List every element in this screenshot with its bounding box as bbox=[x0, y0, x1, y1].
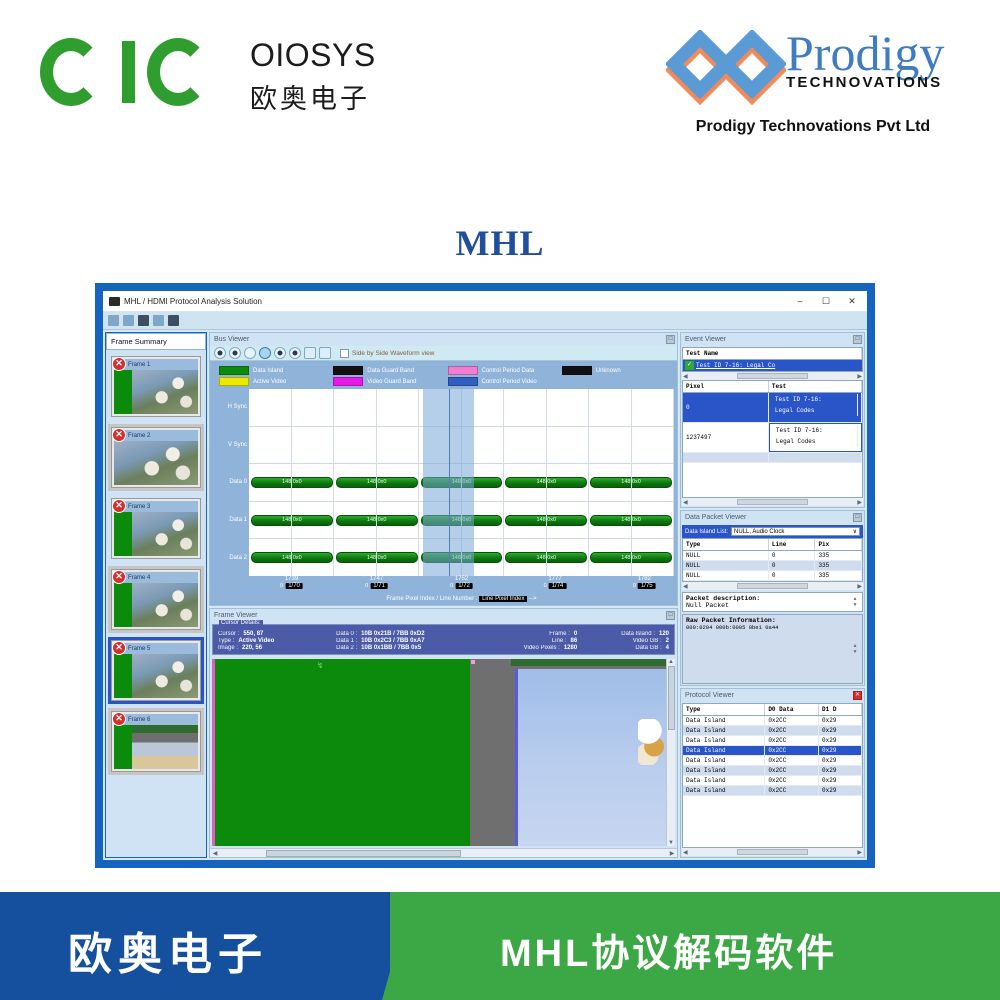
frame-green-region: ↯ bbox=[215, 659, 470, 846]
detail-key: Line : bbox=[552, 638, 567, 644]
detail-row: Video GB :2 bbox=[581, 638, 669, 644]
frame-thumbnail bbox=[114, 441, 198, 485]
banner-green-wedge bbox=[382, 892, 462, 1000]
frame-thumbnail bbox=[114, 654, 198, 698]
toolbar-open-icon[interactable] bbox=[108, 315, 119, 326]
detail-value: 10B 0x1BB / 7BB 0x5 bbox=[361, 645, 421, 651]
legend-item: Data Island bbox=[219, 366, 323, 375]
axis-tick-top: 1739 bbox=[280, 576, 303, 582]
grid-large-icon[interactable] bbox=[319, 347, 331, 359]
workspace: Frame Summary ✕ Frame 1 ✕ bbox=[103, 330, 867, 860]
minimize-button[interactable]: – bbox=[787, 292, 813, 311]
table-header: Test Name bbox=[683, 348, 862, 360]
cursor-details-column-2: Data 0 :10B 0x21B / 7BB 0xD2 Data 1 :10B… bbox=[336, 631, 494, 651]
waveform-block[interactable]: 148 0x0 bbox=[590, 552, 672, 563]
table-row[interactable]: Data Island0x2CC0x29 bbox=[683, 746, 862, 756]
frame-label: Frame 6 bbox=[128, 717, 150, 723]
table-row[interactable]: 1237497 Test ID 7-16: Legal Codes bbox=[683, 423, 862, 453]
window-title: MHL / HDMI Protocol Analysis Solution bbox=[124, 297, 262, 306]
table-row[interactable]: Data Island0x2CC0x29 bbox=[683, 716, 862, 726]
column-header: Test Name bbox=[683, 348, 862, 359]
reset-zoom-icon[interactable] bbox=[244, 347, 256, 359]
waveform-axis: 1739 01/70 1747 01/71 1752 01/72 1777 bbox=[249, 576, 674, 602]
data-island-list-row: Data Island List: NULL, Audio Clock ∨ bbox=[682, 525, 863, 538]
bus-viewer-header: Bus Viewer □ bbox=[210, 333, 677, 346]
frame-label: Frame 2 bbox=[128, 433, 150, 439]
detail-row: Type :Active Video bbox=[218, 638, 332, 644]
column-header: Line bbox=[769, 539, 816, 550]
legend-swatch bbox=[219, 366, 249, 375]
scroll-left-arrow-icon[interactable]: ◀ bbox=[683, 499, 688, 506]
raw-packet-scrollbar[interactable]: ▲▼ bbox=[851, 617, 859, 681]
scroll-right-arrow-icon[interactable]: ▶ bbox=[857, 499, 862, 506]
frame-thumbnail bbox=[114, 725, 198, 769]
legend-swatch bbox=[562, 366, 592, 375]
legend-swatch bbox=[333, 377, 363, 386]
error-icon: ✕ bbox=[112, 499, 126, 513]
test-name-table[interactable]: Test Name ✓ Test ID 7-16: Legal Co bbox=[682, 347, 863, 372]
event-detail-table[interactable]: Pixel Test 0 Test ID 7-16: Legal Codes 1… bbox=[682, 380, 863, 498]
axis-tick-top: 1752 bbox=[450, 576, 473, 582]
page-title: MHL bbox=[0, 222, 1000, 264]
oiosys-name-cn: 欧奥电子 bbox=[250, 80, 376, 118]
detail-value: 0 bbox=[574, 631, 577, 637]
legend-swatch bbox=[448, 366, 478, 375]
column-header: Pix bbox=[815, 539, 862, 550]
list-item[interactable]: ✕ Frame 6 bbox=[108, 708, 204, 775]
event-viewer-title: Event Viewer bbox=[685, 336, 726, 343]
cell-type: Data Island bbox=[683, 776, 765, 785]
list-item[interactable]: ✕ Frame 4 bbox=[108, 566, 204, 633]
cell-type: Data Island bbox=[683, 746, 765, 755]
waveform-legend: Data Island Data Guard Band Control Peri… bbox=[213, 364, 674, 389]
event-viewer-header: Event Viewer □ bbox=[681, 333, 864, 346]
scroll-thumb[interactable] bbox=[737, 849, 809, 855]
protocol-viewer-panel: Protocol Viewer ✕ Type D0 Data D1 D Data… bbox=[680, 688, 865, 858]
waveform-block[interactable]: 148 0x0 bbox=[336, 477, 418, 488]
waveform-block[interactable]: 148 0x0 bbox=[505, 515, 587, 526]
scroll-up-arrow-icon[interactable]: ▲ bbox=[668, 659, 674, 665]
eye-icon[interactable] bbox=[289, 347, 301, 359]
waveform-block[interactable]: 148 0x0 bbox=[251, 515, 333, 526]
data-island-list-label: Data Island List: bbox=[685, 529, 728, 535]
prodigy-wordmark: Prodigy TECHNOVATIONS bbox=[786, 26, 944, 91]
packet-description-value: Null Packet bbox=[686, 602, 851, 609]
frame-pink-marker-icon bbox=[471, 660, 475, 664]
scroll-down-arrow-icon[interactable]: ▼ bbox=[853, 649, 856, 655]
frame-card: ✕ Frame 5 bbox=[111, 640, 201, 701]
scroll-right-arrow-icon[interactable]: ▶ bbox=[857, 849, 862, 856]
scroll-thumb[interactable] bbox=[668, 666, 675, 730]
banner-company-name: 欧奥电子 bbox=[68, 918, 268, 982]
app-toolbar bbox=[103, 312, 867, 330]
waveform-block[interactable]: 148 0x0 bbox=[336, 515, 418, 526]
legend-item: Data Guard Band bbox=[333, 366, 437, 375]
frame-caption: ✕ Frame 3 bbox=[114, 501, 198, 512]
list-item[interactable]: ✕ Frame 2 bbox=[108, 424, 204, 491]
legend-swatch bbox=[333, 366, 363, 375]
legend-item: Video Guard Band bbox=[333, 377, 437, 386]
packet-description-box: Packet description: Null Packet ▲▼ bbox=[682, 592, 863, 612]
scroll-left-arrow-icon[interactable]: ◀ bbox=[683, 849, 688, 856]
scroll-thumb[interactable] bbox=[737, 499, 809, 505]
cell-d1: 0x29 bbox=[819, 756, 862, 765]
frame-caption: ✕ Frame 4 bbox=[114, 572, 198, 583]
table-row[interactable]: Data Island0x2CC0x29 bbox=[683, 786, 862, 796]
cell-pix: 335 bbox=[815, 571, 862, 580]
frame-card: ✕ Frame 3 bbox=[111, 498, 201, 559]
application-window-frame: MHL / HDMI Protocol Analysis Solution – … bbox=[95, 283, 875, 868]
table-row[interactable]: NULL0335 bbox=[683, 561, 862, 571]
legend-item-empty bbox=[562, 377, 666, 386]
error-icon: ✕ bbox=[112, 641, 126, 655]
detail-row: Data 0 :10B 0x21B / 7BB 0xD2 bbox=[336, 631, 494, 637]
oio-ring-right-icon bbox=[147, 38, 209, 106]
cell-type: NULL bbox=[683, 551, 769, 560]
cell-d1: 0x29 bbox=[819, 716, 862, 725]
axis-tick-top: 1782 bbox=[633, 576, 656, 582]
frame-picture-region bbox=[511, 659, 666, 846]
packet-table-hscrollbar[interactable]: ◀▶ bbox=[682, 582, 863, 590]
zoom-in-icon[interactable] bbox=[214, 347, 226, 359]
scroll-left-arrow-icon[interactable]: ◀ bbox=[683, 373, 688, 380]
detail-key: Type : bbox=[218, 638, 234, 644]
axis-caption-highlight: Line Pixel Index bbox=[479, 596, 527, 602]
cell-d0: 0x2CC bbox=[765, 716, 819, 725]
waveform-block[interactable]: 148 0x0 bbox=[505, 552, 587, 563]
data-packet-viewer-header: Data Packet Viewer □ bbox=[681, 511, 864, 524]
maximize-button[interactable]: ☐ bbox=[813, 292, 839, 311]
error-icon: ✕ bbox=[112, 428, 126, 442]
cell-type: Data Island bbox=[683, 756, 765, 765]
axis-tick-zero: 0 bbox=[280, 583, 283, 589]
axis-tick-zero: 0 bbox=[544, 583, 547, 589]
cell-d0: 0x2CC bbox=[765, 726, 819, 735]
table-row[interactable]: Data Island0x2CC0x29 bbox=[683, 756, 862, 766]
frame-gray-region bbox=[470, 659, 512, 846]
detail-value: 4 bbox=[666, 645, 669, 651]
bus-viewer-close-icon[interactable]: □ bbox=[666, 335, 675, 344]
legend-label: Control Period Data bbox=[482, 368, 535, 374]
scroll-right-arrow-icon[interactable]: ▶ bbox=[668, 850, 676, 857]
prodigy-mark-icon bbox=[666, 30, 786, 110]
waveform-canvas[interactable]: H Sync V Sync Data 0 148 0x0 148 0x0 bbox=[249, 389, 674, 576]
raw-packet-value: 000:0204 000b:0005 0be1 0a44 bbox=[686, 624, 851, 631]
frame-summary-list[interactable]: ✕ Frame 1 ✕ Frame 2 bbox=[106, 350, 206, 857]
table-row[interactable]: NULL0335 bbox=[683, 571, 862, 581]
scroll-thumb[interactable] bbox=[737, 373, 809, 379]
prodigy-logo: Prodigy TECHNOVATIONS Prodigy Technovati… bbox=[648, 22, 978, 137]
axis-tick-value: 1/75 bbox=[638, 583, 656, 589]
legend-item: Unknown bbox=[562, 366, 666, 375]
legend-item: Active Video bbox=[219, 377, 323, 386]
window-titlebar: MHL / HDMI Protocol Analysis Solution – … bbox=[103, 291, 867, 312]
waveform-row-label: H Sync bbox=[213, 404, 247, 410]
center-column: Bus Viewer □ Side by Side Waveform view bbox=[209, 332, 678, 858]
list-item[interactable]: ✕ Frame 1 bbox=[108, 353, 204, 420]
cursor-details-group: Cursor Details: Cursor :550, 87 Type :Ac… bbox=[212, 624, 675, 655]
undo-arrow-icon[interactable] bbox=[259, 347, 271, 359]
detail-key: Image : bbox=[218, 645, 238, 651]
waveform-block[interactable]: 148 0x0 bbox=[336, 552, 418, 563]
event-viewer-panel: Event Viewer □ Test Name ✓ Test ID 7-16:… bbox=[680, 332, 865, 508]
dropdown-value: NULL, Audio Clock bbox=[734, 529, 784, 535]
table-row[interactable] bbox=[683, 453, 862, 463]
axis-tick: 1782 01/75 bbox=[633, 576, 656, 589]
detail-value: 220, 56 bbox=[242, 645, 262, 651]
frame-horizontal-scrollbar[interactable]: ◀ ▶ bbox=[210, 848, 677, 857]
axis-tick-value: 1/70 bbox=[285, 583, 303, 589]
frame-viewer-title: Frame Viewer bbox=[214, 612, 257, 619]
axis-caption-pre: Frame Pixel Index / Line Number : bbox=[386, 596, 477, 602]
detail-value: 86 bbox=[571, 638, 578, 644]
event-viewer-close-icon[interactable]: □ bbox=[853, 335, 862, 344]
cell-line: 0 bbox=[769, 561, 816, 570]
protocol-viewer-title: Protocol Viewer bbox=[685, 692, 734, 699]
cell-test-line1: Test ID 7-16: bbox=[772, 394, 858, 405]
axis-tick-value: 1/74 bbox=[549, 583, 567, 589]
table-row[interactable]: ✓ Test ID 7-16: Legal Co bbox=[683, 360, 862, 371]
waveform-block[interactable]: 148 0x0 bbox=[590, 477, 672, 488]
scroll-thumb[interactable] bbox=[266, 850, 461, 857]
axis-tick-zero: 0 bbox=[450, 583, 453, 589]
scroll-left-arrow-icon[interactable]: ◀ bbox=[683, 583, 688, 590]
cell-pixel: 1237497 bbox=[683, 423, 769, 452]
legend-item: Control Period Data bbox=[448, 366, 552, 375]
checkbox-box[interactable] bbox=[340, 349, 349, 358]
error-icon: ✕ bbox=[112, 570, 126, 584]
cell-type: Data Island bbox=[683, 786, 765, 795]
legend-item: Control Period Video bbox=[448, 377, 552, 386]
axis-tick: 1739 01/70 bbox=[280, 576, 303, 589]
toolbar-settings-icon[interactable] bbox=[153, 315, 164, 326]
legend-label: Active Video bbox=[253, 379, 286, 385]
table-row[interactable]: Data Island0x2CC0x29 bbox=[683, 776, 862, 786]
axis-tick-zero: 0 bbox=[365, 583, 368, 589]
frame-top-band bbox=[511, 659, 666, 666]
legend-label: Unknown bbox=[596, 368, 621, 374]
packet-description-scrollbar[interactable]: ▲▼ bbox=[851, 595, 859, 609]
table-row[interactable]: Data Island0x2CC0x29 bbox=[683, 736, 862, 746]
page-header: OIOSYS 欧奥电子 Prodigy TECHNOVATIONS Prodig… bbox=[0, 0, 1000, 160]
cell-d0: 0x2CC bbox=[765, 736, 819, 745]
axis-tick-value: 1/72 bbox=[455, 583, 473, 589]
scroll-left-arrow-icon[interactable]: ◀ bbox=[211, 850, 219, 857]
frame-label: Frame 3 bbox=[128, 504, 150, 510]
bus-viewer-title: Bus Viewer bbox=[214, 336, 249, 343]
cell-test: Test ID 7-16: Legal Codes bbox=[769, 423, 862, 452]
cursor-details-column-1: Cursor :550, 87 Type :Active Video Image… bbox=[218, 631, 332, 651]
cell-d0: 0x2CC bbox=[765, 786, 819, 795]
cell-pix: 335 bbox=[815, 551, 862, 560]
scroll-down-arrow-icon[interactable]: ▼ bbox=[853, 602, 856, 608]
event-viewer-body: Test Name ✓ Test ID 7-16: Legal Co ◀▶ Pi… bbox=[682, 347, 863, 506]
scroll-right-arrow-icon[interactable]: ▶ bbox=[857, 373, 862, 380]
cursor-details-column-4: Data Island :120 Video GB :2 Data GB :4 bbox=[581, 631, 669, 651]
selected-test-name: Test ID 7-16: Legal Co bbox=[696, 362, 775, 369]
frame-summary-header: Frame Summary bbox=[106, 333, 206, 350]
frame-viewer-close-icon[interactable]: □ bbox=[666, 611, 675, 620]
error-icon: ✕ bbox=[112, 357, 126, 371]
detail-row: Data 2 :10B 0x1BB / 7BB 0x5 bbox=[336, 645, 494, 651]
legend-label: Data Guard Band bbox=[367, 368, 414, 374]
protocol-viewer-close-icon[interactable]: ✕ bbox=[853, 691, 862, 700]
data-packet-viewer-close-icon[interactable]: □ bbox=[853, 513, 862, 522]
toolbar-save-icon[interactable] bbox=[123, 315, 134, 326]
cell-d1: 0x29 bbox=[819, 726, 862, 735]
cell-d0: 0x2CC bbox=[765, 746, 819, 755]
legend-label: Video Guard Band bbox=[367, 379, 416, 385]
oiosys-name-en: OIOSYS bbox=[250, 36, 376, 74]
frame-vertical-scrollbar[interactable]: ▲ ▼ bbox=[666, 659, 675, 846]
axis-tick: 1752 01/72 bbox=[450, 576, 473, 589]
detail-row: Image :220, 56 bbox=[218, 645, 332, 651]
cell-pixel: 0 bbox=[683, 393, 769, 422]
detail-value: 550, 87 bbox=[243, 631, 263, 637]
legend-label: Control Period Video bbox=[482, 379, 537, 385]
waveform-block[interactable]: 148 0x0 bbox=[590, 515, 672, 526]
axis-tick: 1777 01/74 bbox=[544, 576, 567, 589]
scroll-right-arrow-icon[interactable]: ▶ bbox=[857, 583, 862, 590]
table-row[interactable]: Data Island0x2CC0x29 bbox=[683, 726, 862, 736]
axis-tick-zero: 0 bbox=[633, 583, 636, 589]
axis-tick-top: 1747 bbox=[365, 576, 388, 582]
toolbar-run-icon[interactable] bbox=[168, 315, 179, 326]
detail-row: Data GB :4 bbox=[581, 645, 669, 651]
detail-key: Video Pixels : bbox=[524, 645, 560, 651]
waveform-area[interactable]: H Sync V Sync Data 0 148 0x0 148 0x0 bbox=[249, 389, 674, 576]
detail-key: Frame : bbox=[549, 631, 570, 637]
frame-caption: ✕ Frame 5 bbox=[114, 643, 198, 654]
check-icon: ✓ bbox=[685, 361, 694, 370]
detail-value: 10B 0x21B / 7BB 0xD2 bbox=[361, 631, 424, 637]
axis-tick-value: 1/71 bbox=[370, 583, 388, 589]
cell-line: 0 bbox=[769, 571, 816, 580]
detail-row: Frame :0 bbox=[498, 631, 577, 637]
event-detail-hscrollbar[interactable]: ◀▶ bbox=[682, 498, 863, 506]
oio-bar-icon bbox=[122, 41, 135, 103]
event-list-hscrollbar[interactable]: ◀▶ bbox=[682, 372, 863, 380]
detail-row: Data 1 :10B 0x2C3 / 7BB 0xA7 bbox=[336, 638, 494, 644]
application-window: MHL / HDMI Protocol Analysis Solution – … bbox=[103, 291, 867, 860]
scroll-thumb[interactable] bbox=[737, 583, 809, 589]
app-icon bbox=[109, 297, 120, 306]
frame-viewer-header: Frame Viewer □ bbox=[210, 609, 677, 622]
frame-caption: ✕ Frame 2 bbox=[114, 430, 198, 441]
packet-table[interactable]: Type Line Pix NULL0335 NULL0335 NULL0335 bbox=[682, 538, 863, 582]
column-header: Pixel bbox=[683, 381, 769, 392]
cell-d1: 0x29 bbox=[819, 776, 862, 785]
close-button[interactable]: ✕ bbox=[839, 292, 865, 311]
table-header: Pixel Test bbox=[683, 381, 862, 393]
error-icon: ✕ bbox=[112, 712, 126, 726]
detail-row: Cursor :550, 87 bbox=[218, 631, 332, 637]
prodigy-name: Prodigy bbox=[786, 26, 944, 80]
zoom-out-icon[interactable] bbox=[229, 347, 241, 359]
grid-small-icon[interactable] bbox=[304, 347, 316, 359]
prodigy-tagline: TECHNOVATIONS bbox=[786, 74, 944, 91]
frame-flower-detail bbox=[638, 719, 664, 765]
cell-test: Test ID 7-16: Legal Codes bbox=[769, 393, 862, 422]
detail-key: Data Island : bbox=[621, 631, 655, 637]
frame-image-canvas[interactable]: ↯ ▲ ▼ bbox=[212, 659, 675, 846]
frame-card: ✕ Frame 6 bbox=[111, 711, 201, 772]
detail-key: Video GB : bbox=[633, 638, 662, 644]
detail-value: 10B 0x2C3 / 7BB 0xA7 bbox=[361, 638, 424, 644]
cell-type: NULL bbox=[683, 571, 769, 580]
frame-label: Frame 4 bbox=[128, 575, 150, 581]
axis-caption-post: --> bbox=[529, 596, 537, 602]
cell-pix: 335 bbox=[815, 561, 862, 570]
prodigy-company-name: Prodigy Technovations Pvt Ltd bbox=[648, 118, 978, 136]
cell-d1: 0x29 bbox=[819, 736, 862, 745]
right-column: Event Viewer □ Test Name ✓ Test ID 7-16:… bbox=[680, 332, 865, 858]
detail-key: Data GB : bbox=[635, 645, 661, 651]
data-island-list-dropdown[interactable]: NULL, Audio Clock ∨ bbox=[731, 527, 860, 536]
cell-type: NULL bbox=[683, 561, 769, 570]
frame-card: ✕ Frame 4 bbox=[111, 569, 201, 630]
packet-description-header: Packet description: bbox=[686, 595, 851, 602]
waveform-block[interactable]: 148 0x0 bbox=[505, 477, 587, 488]
raw-packet-box: Raw Packet Information: 000:0204 000b:00… bbox=[682, 614, 863, 684]
column-header: Type bbox=[683, 539, 769, 550]
cell-d1: 0x29 bbox=[819, 766, 862, 775]
detail-value: Active Video bbox=[238, 638, 274, 644]
table-row[interactable]: Data Island0x2CC0x29 bbox=[683, 766, 862, 776]
frame-caption: ✕ Frame 1 bbox=[114, 359, 198, 370]
waveform-row-label: Data 0 bbox=[213, 479, 247, 485]
frame-card: ✕ Frame 1 bbox=[111, 356, 201, 417]
bus-viewer-toolbar: Side by Side Waveform view bbox=[210, 346, 677, 361]
cell-type: Data Island bbox=[683, 736, 765, 745]
list-item[interactable]: ✕ Frame 3 bbox=[108, 495, 204, 562]
cell-test-line2: Legal Codes bbox=[773, 436, 858, 447]
legend-label: Data Island bbox=[253, 368, 283, 374]
legend-swatch bbox=[219, 377, 249, 386]
oiosys-logo-text: OIOSYS 欧奥电子 bbox=[250, 36, 376, 118]
protocol-viewer-body: Type D0 Data D1 D Data Island0x2CC0x29 D… bbox=[682, 703, 863, 856]
table-header: Type D0 Data D1 D bbox=[683, 704, 862, 716]
protocol-table[interactable]: Type D0 Data D1 D Data Island0x2CC0x29 D… bbox=[682, 703, 863, 848]
side-by-side-waveform-checkbox[interactable]: Side by Side Waveform view bbox=[340, 349, 435, 358]
cursor-line[interactable] bbox=[449, 389, 450, 576]
frame-summary-panel: Frame Summary ✕ Frame 1 ✕ bbox=[105, 332, 207, 858]
cell-d0: 0x2CC bbox=[765, 766, 819, 775]
cell-type: Data Island bbox=[683, 726, 765, 735]
checkbox-label: Side by Side Waveform view bbox=[352, 350, 435, 357]
frame-thumbnail bbox=[114, 370, 198, 414]
detail-row: Data Island :120 bbox=[581, 631, 669, 637]
frame-viewer-panel: Frame Viewer □ Cursor Details: Cursor :5… bbox=[209, 608, 678, 858]
bus-viewer-body: Data Island Data Guard Band Control Peri… bbox=[210, 361, 677, 605]
scroll-down-arrow-icon[interactable]: ▼ bbox=[668, 840, 674, 846]
data-packet-viewer-title: Data Packet Viewer bbox=[685, 514, 746, 521]
data-packet-viewer-body: Data Island List: NULL, Audio Clock ∨ Ty… bbox=[682, 525, 863, 684]
waveform-block[interactable]: 148 0x0 bbox=[251, 552, 333, 563]
toolbar-capture-icon[interactable] bbox=[138, 315, 149, 326]
protocol-table-hscrollbar[interactable]: ◀▶ bbox=[682, 848, 863, 856]
cell-test-line1: Test ID 7-16: bbox=[773, 425, 858, 436]
cursor-icon[interactable] bbox=[274, 347, 286, 359]
cell-type: Data Island bbox=[683, 766, 765, 775]
table-row[interactable]: NULL0335 bbox=[683, 551, 862, 561]
waveform-row-label: V Sync bbox=[213, 442, 247, 448]
waveform-block[interactable]: 148 0x0 bbox=[251, 477, 333, 488]
cursor-details-title: Cursor Details: bbox=[219, 620, 263, 626]
list-item[interactable]: ✕ Frame 5 bbox=[108, 637, 204, 704]
frame-thumbnail bbox=[114, 512, 198, 556]
table-row[interactable]: 0 Test ID 7-16: Legal Codes bbox=[683, 393, 862, 423]
